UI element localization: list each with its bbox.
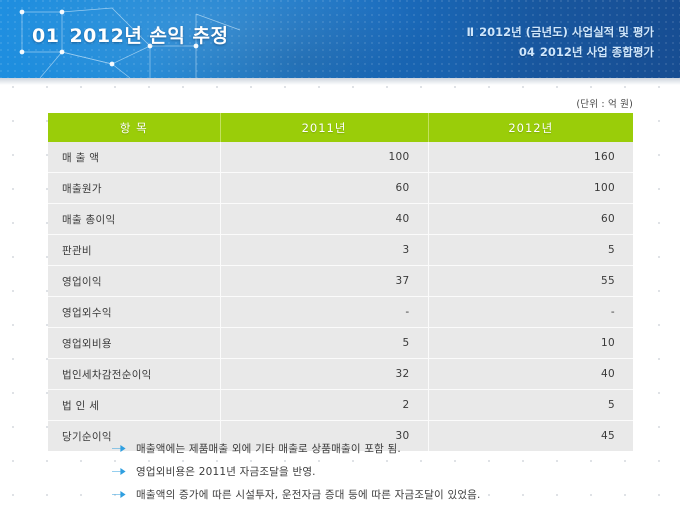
row-value-2011: - — [220, 297, 428, 328]
row-label: 영업외비용 — [48, 328, 220, 359]
row-label: 영업외수익 — [48, 297, 220, 328]
row-value-2012: 40 — [428, 359, 633, 390]
profit-loss-table: 항 목 2011년 2012년 매 출 액 100 160 매출원가 60 10… — [48, 113, 633, 451]
column-header-2011: 2011년 — [220, 113, 428, 142]
row-value-2011: 37 — [220, 266, 428, 297]
footnote-list: 매출액에는 제품매출 외에 기타 매출로 상품매출이 포함 됨. 영업외비용은 … — [112, 437, 481, 506]
table-header-row: 항 목 2011년 2012년 — [48, 113, 633, 142]
table-row: 영업이익 37 55 — [48, 266, 633, 297]
row-value-2011: 3 — [220, 235, 428, 266]
profit-loss-table-container: 항 목 2011년 2012년 매 출 액 100 160 매출원가 60 10… — [48, 113, 633, 451]
header-breadcrumb-line1: Ⅱ2012년 (금년도) 사업실적 및 평가 — [467, 22, 655, 42]
header-section-roman: Ⅱ — [467, 25, 475, 39]
column-header-item: 항 목 — [48, 113, 220, 142]
slide-header-banner: 012012년 손익 추정 Ⅱ2012년 (금년도) 사업실적 및 평가 042… — [0, 0, 680, 78]
row-value-2011: 32 — [220, 359, 428, 390]
table-row: 영업외수익 - - — [48, 297, 633, 328]
row-value-2012: 10 — [428, 328, 633, 359]
arrow-right-icon — [112, 443, 128, 454]
header-subsection-title: 2012년 사업 종합평가 — [540, 45, 654, 59]
table-body: 매 출 액 100 160 매출원가 60 100 매출 총이익 40 60 판… — [48, 142, 633, 451]
row-value-2012: - — [428, 297, 633, 328]
row-value-2012: 60 — [428, 204, 633, 235]
header-subsection-number: 04 — [519, 45, 535, 59]
header-drop-shadow — [0, 78, 680, 85]
header-breadcrumb: Ⅱ2012년 (금년도) 사업실적 및 평가 042012년 사업 종합평가 — [467, 22, 655, 62]
row-label: 매 출 액 — [48, 142, 220, 173]
row-label: 매출원가 — [48, 173, 220, 204]
slide-title-number: 01 — [32, 25, 59, 47]
list-item: 매출액의 증가에 따른 시설투자, 운전자금 증대 등에 따른 자금조달이 있었… — [112, 483, 481, 506]
footnote-text: 매출액에는 제품매출 외에 기타 매출로 상품매출이 포함 됨. — [136, 441, 401, 456]
table-row: 판관비 3 5 — [48, 235, 633, 266]
slide-title: 012012년 손익 추정 — [32, 21, 228, 48]
row-value-2011: 100 — [220, 142, 428, 173]
arrow-right-icon — [112, 489, 128, 500]
header-section-title: 2012년 (금년도) 사업실적 및 평가 — [479, 25, 654, 39]
row-value-2012: 100 — [428, 173, 633, 204]
slide-title-text: 2012년 손익 추정 — [69, 25, 228, 47]
row-label: 법 인 세 — [48, 390, 220, 421]
row-label: 매출 총이익 — [48, 204, 220, 235]
arrow-right-icon — [112, 466, 128, 477]
row-label: 영업이익 — [48, 266, 220, 297]
row-value-2012: 160 — [428, 142, 633, 173]
header-breadcrumb-line2: 042012년 사업 종합평가 — [467, 42, 655, 62]
table-row: 매출 총이익 40 60 — [48, 204, 633, 235]
table-row: 영업외비용 5 10 — [48, 328, 633, 359]
table-unit-note: (단위 : 억 원) — [576, 96, 633, 110]
row-value-2011: 60 — [220, 173, 428, 204]
table-row: 매 출 액 100 160 — [48, 142, 633, 173]
row-value-2011: 40 — [220, 204, 428, 235]
list-item: 매출액에는 제품매출 외에 기타 매출로 상품매출이 포함 됨. — [112, 437, 481, 460]
row-label: 법인세차감전순이익 — [48, 359, 220, 390]
footnote-text: 영업외비용은 2011년 자금조달을 반영. — [136, 464, 316, 479]
row-label: 판관비 — [48, 235, 220, 266]
row-value-2012: 55 — [428, 266, 633, 297]
row-value-2011: 2 — [220, 390, 428, 421]
row-value-2012: 5 — [428, 390, 633, 421]
row-value-2011: 5 — [220, 328, 428, 359]
footnote-text: 매출액의 증가에 따른 시설투자, 운전자금 증대 등에 따른 자금조달이 있었… — [136, 487, 481, 502]
list-item: 영업외비용은 2011년 자금조달을 반영. — [112, 460, 481, 483]
table-row: 법인세차감전순이익 32 40 — [48, 359, 633, 390]
column-header-2012: 2012년 — [428, 113, 633, 142]
row-value-2012: 5 — [428, 235, 633, 266]
table-row: 법 인 세 2 5 — [48, 390, 633, 421]
table-row: 매출원가 60 100 — [48, 173, 633, 204]
